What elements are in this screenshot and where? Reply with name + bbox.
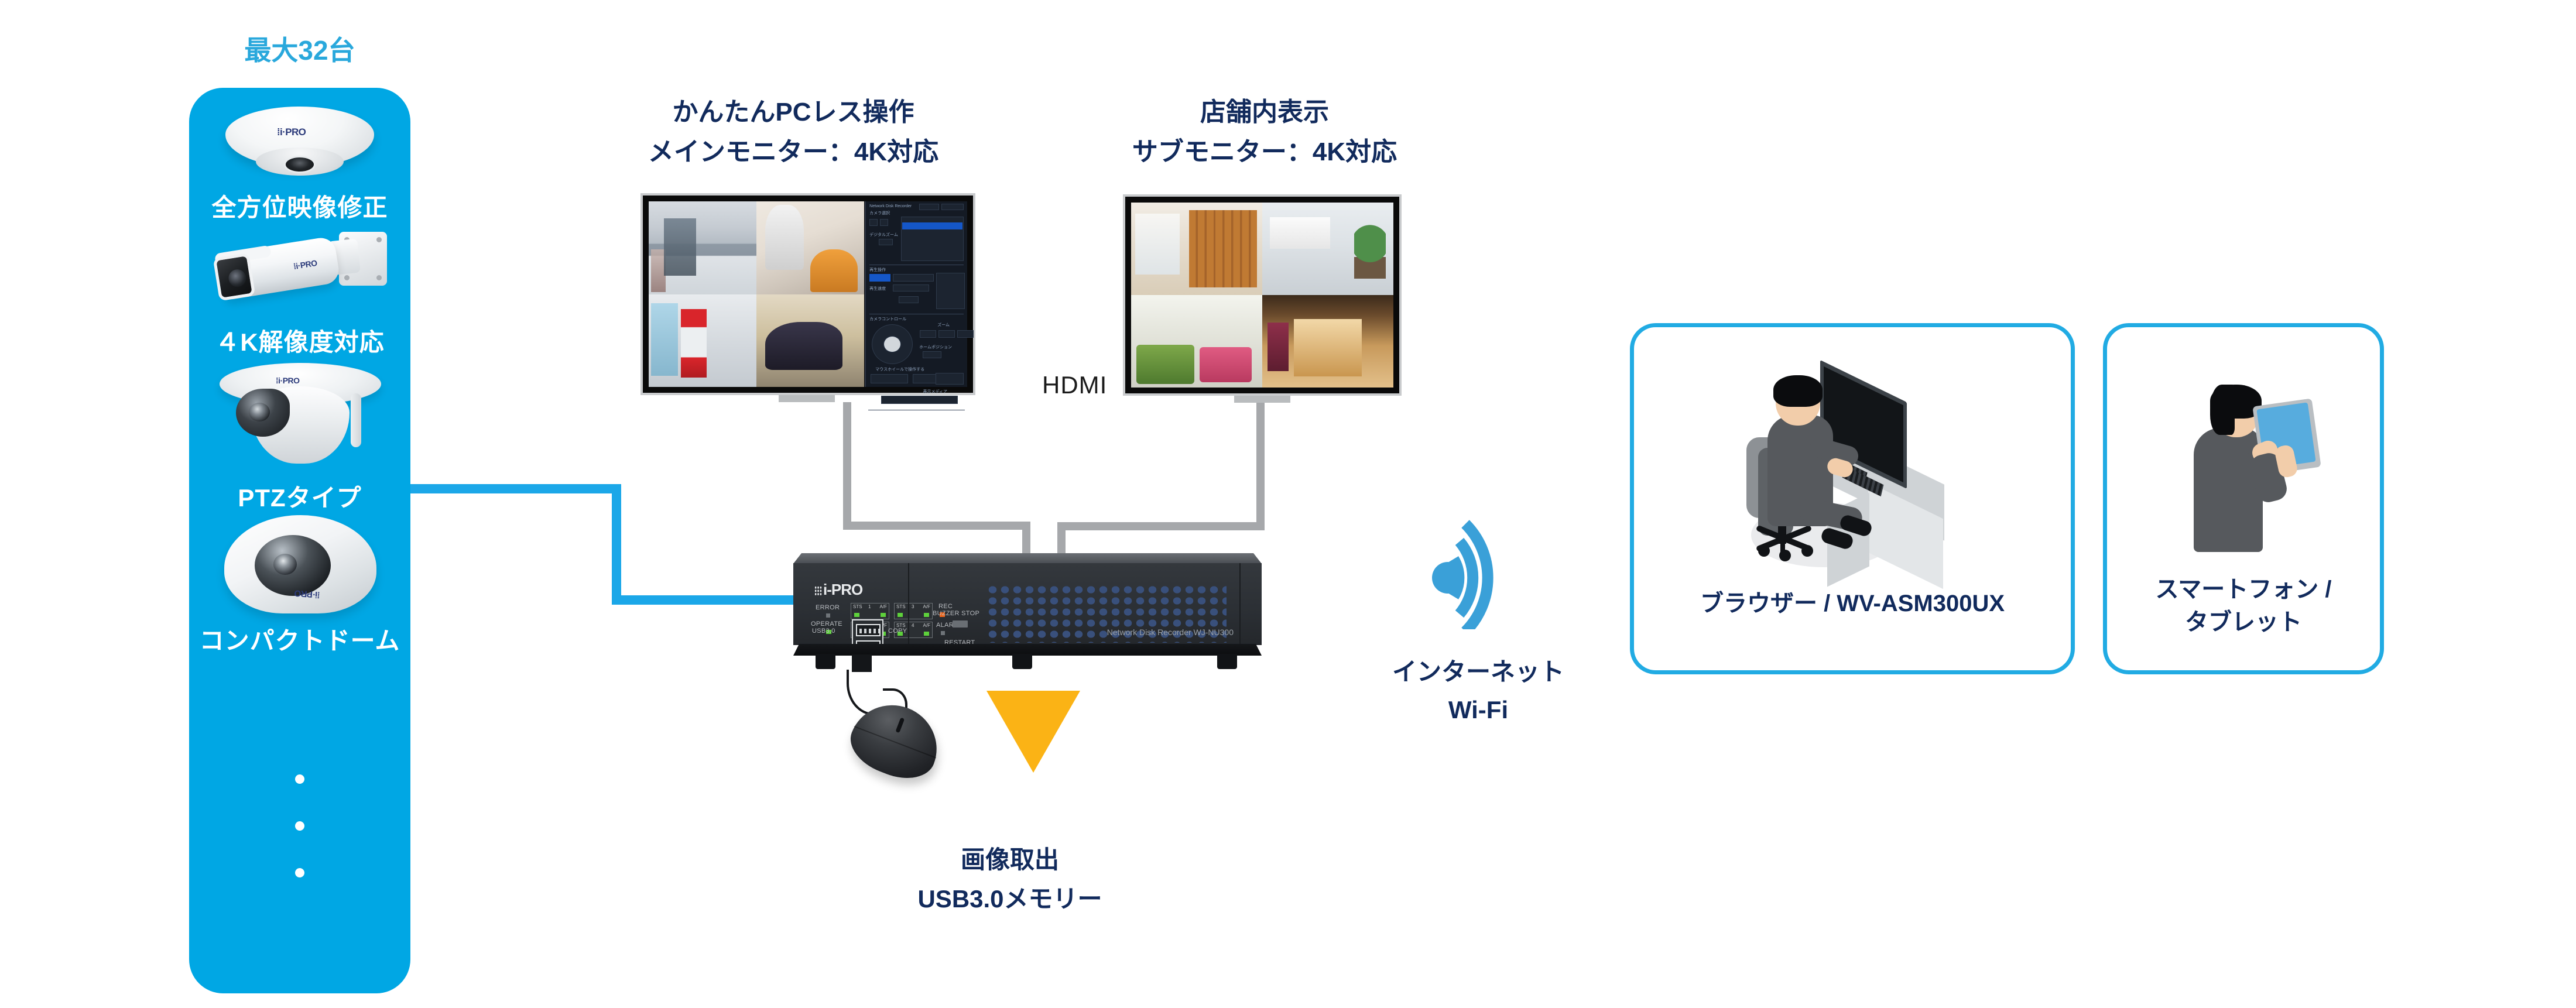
ptz-dome-camera-icon: ⁞i·PRO — [220, 363, 381, 468]
nvr-panel-divider-left — [908, 563, 909, 645]
sub-monitor-screen[interactable] — [1123, 194, 1402, 396]
usb-export-arrow-icon — [986, 691, 1080, 773]
client-browser-label: ブラウザー / WV-ASM300UX — [1634, 587, 2071, 620]
buzzer-stop-label: BUZZER STOP — [933, 610, 979, 617]
led-label-error: ERROR — [816, 604, 840, 611]
led-label-operate: OPERATE — [811, 620, 842, 628]
sub-monitor-stand — [1234, 396, 1290, 403]
sub-monitor-caption-line1: 店舗内表示 — [1095, 92, 1434, 132]
hdmi-cable-main-horizontal — [843, 522, 1030, 530]
hdmi-cable-main-vertical — [843, 402, 851, 530]
network-disk-recorder[interactable]: i-PRO ERROR OPERATE STS1A/F STS3A/F STS2… — [793, 553, 1262, 661]
camera-label-1: ４K解像度対応 — [189, 329, 410, 356]
network-link-horizontal-bottom — [612, 595, 805, 605]
nvr-foot-right — [1217, 654, 1237, 669]
main-monitor-pane-1 — [649, 201, 756, 294]
network-link-horizontal-top — [410, 484, 621, 493]
led-label-rec: REC — [938, 603, 953, 610]
sub-monitor-pane-1 — [1131, 203, 1262, 295]
network-link-vertical — [612, 484, 621, 605]
wifi-icon — [1420, 500, 1537, 629]
network-caption: インターネット Wi-Fi — [1352, 653, 1604, 729]
usb-mouse[interactable] — [820, 654, 960, 789]
main-monitor-pane-4 — [756, 294, 864, 388]
continuation-dot-1 — [295, 774, 304, 784]
hdmi-cable-sub-horizontal — [1057, 522, 1265, 530]
buzzer-stop-button[interactable] — [953, 620, 968, 628]
continuation-dot-2 — [295, 821, 304, 831]
drive-group-3: STS3A/F — [894, 603, 933, 619]
hdmi-label: HDMI — [1042, 371, 1107, 399]
compact-dome-camera-icon: ⁞i·PRO — [224, 515, 376, 618]
main-monitor-caption-line1: かんたんPCレス操作 — [606, 92, 981, 132]
ipro-logo: i-PRO — [814, 581, 862, 599]
main-monitor-screen[interactable]: Network Disk Recorder カメラ選択 デジタルズーム 再生操作… — [640, 193, 975, 395]
usb-export-caption-line2: USB3.0メモリー — [866, 879, 1153, 918]
main-monitor-pane-3 — [649, 294, 756, 388]
nvr-panel-divider-right — [1239, 563, 1241, 645]
main-monitor-pane-2 — [756, 201, 864, 294]
main-monitor-caption: かんたんPCレス操作 メインモニター：4K対応 — [606, 92, 981, 172]
nvr-front-panel: i-PRO ERROR OPERATE STS1A/F STS3A/F STS2… — [793, 563, 1262, 645]
hdmi-cable-sub-vertical — [1256, 403, 1265, 530]
nvr-foot-center — [1012, 654, 1032, 669]
fisheye-dome-camera-icon: ⁞i·PRO — [225, 104, 374, 184]
drive-group-1: STS1A/F — [851, 603, 889, 619]
client-mobile-label-line2: タブレット — [2107, 606, 2380, 639]
usb-export-caption-line1: 画像取出 — [866, 840, 1153, 879]
client-mobile-label-line1: スマートフォン / — [2107, 573, 2380, 606]
continuation-dot-3 — [295, 868, 304, 877]
sub-monitor-pane-3 — [1131, 295, 1262, 388]
sub-monitor-caption-line2: サブモニター：4K対応 — [1095, 132, 1434, 172]
nvr-model-label: Network Disk Recorder WJ-NU300 — [1107, 628, 1234, 637]
network-caption-line1: インターネット — [1352, 653, 1604, 691]
client-card-browser-caption: ブラウザー / WV-ASM300UX — [1634, 587, 2071, 620]
client-card-browser[interactable]: ブラウザー / WV-ASM300UX — [1630, 323, 2075, 674]
bullet-camera-icon: ⁞i·PRO — [211, 228, 387, 316]
main-monitor-stand — [779, 395, 835, 402]
sub-monitor-caption: 店舗内表示 サブモニター：4K対応 — [1095, 92, 1434, 172]
main-monitor-caption-line2: メインモニター：4K対応 — [606, 132, 981, 172]
max-cameras-label: 最大32台 — [189, 29, 410, 68]
usb3-use-label: COPY — [888, 628, 907, 635]
led-alarm — [941, 631, 945, 635]
camera-label-2: PTZタイプ — [189, 485, 410, 512]
led-error — [826, 613, 830, 618]
usb-export-caption: 画像取出 USB3.0メモリー — [866, 840, 1153, 918]
client-card-mobile[interactable]: スマートフォン / タブレット — [2103, 323, 2384, 674]
nvr-top-panel — [793, 553, 1262, 564]
person-holding-tablet-icon — [2107, 327, 2380, 579]
camera-lineup-panel: ⁞i·PRO 全方位映像修正 ⁞i·PRO ４K解像度対応 ⁞i·PRO PTZ… — [189, 88, 410, 993]
camera-label-0: 全方位映像修正 — [189, 194, 410, 221]
diagram-canvas: 最大32台 ⁞i·PRO 全方位映像修正 ⁞i·PRO ４K解像度対応 — [0, 0, 2576, 1008]
ipro-brand-text: i-PRO — [823, 581, 862, 598]
usb3-spec-label: USB3.0 — [812, 628, 835, 635]
network-caption-line2: Wi-Fi — [1352, 691, 1604, 729]
camera-label-3: コンパクトドーム — [189, 628, 410, 654]
person-at-desk-with-monitor-icon — [1634, 327, 2071, 579]
sub-monitor-pane-4 — [1262, 295, 1393, 388]
sub-monitor-pane-2 — [1262, 203, 1393, 295]
main-monitor-control-sidebar[interactable]: Network Disk Recorder カメラ選択 デジタルズーム 再生操作… — [865, 201, 967, 387]
client-card-mobile-caption: スマートフォン / タブレット — [2107, 573, 2380, 639]
